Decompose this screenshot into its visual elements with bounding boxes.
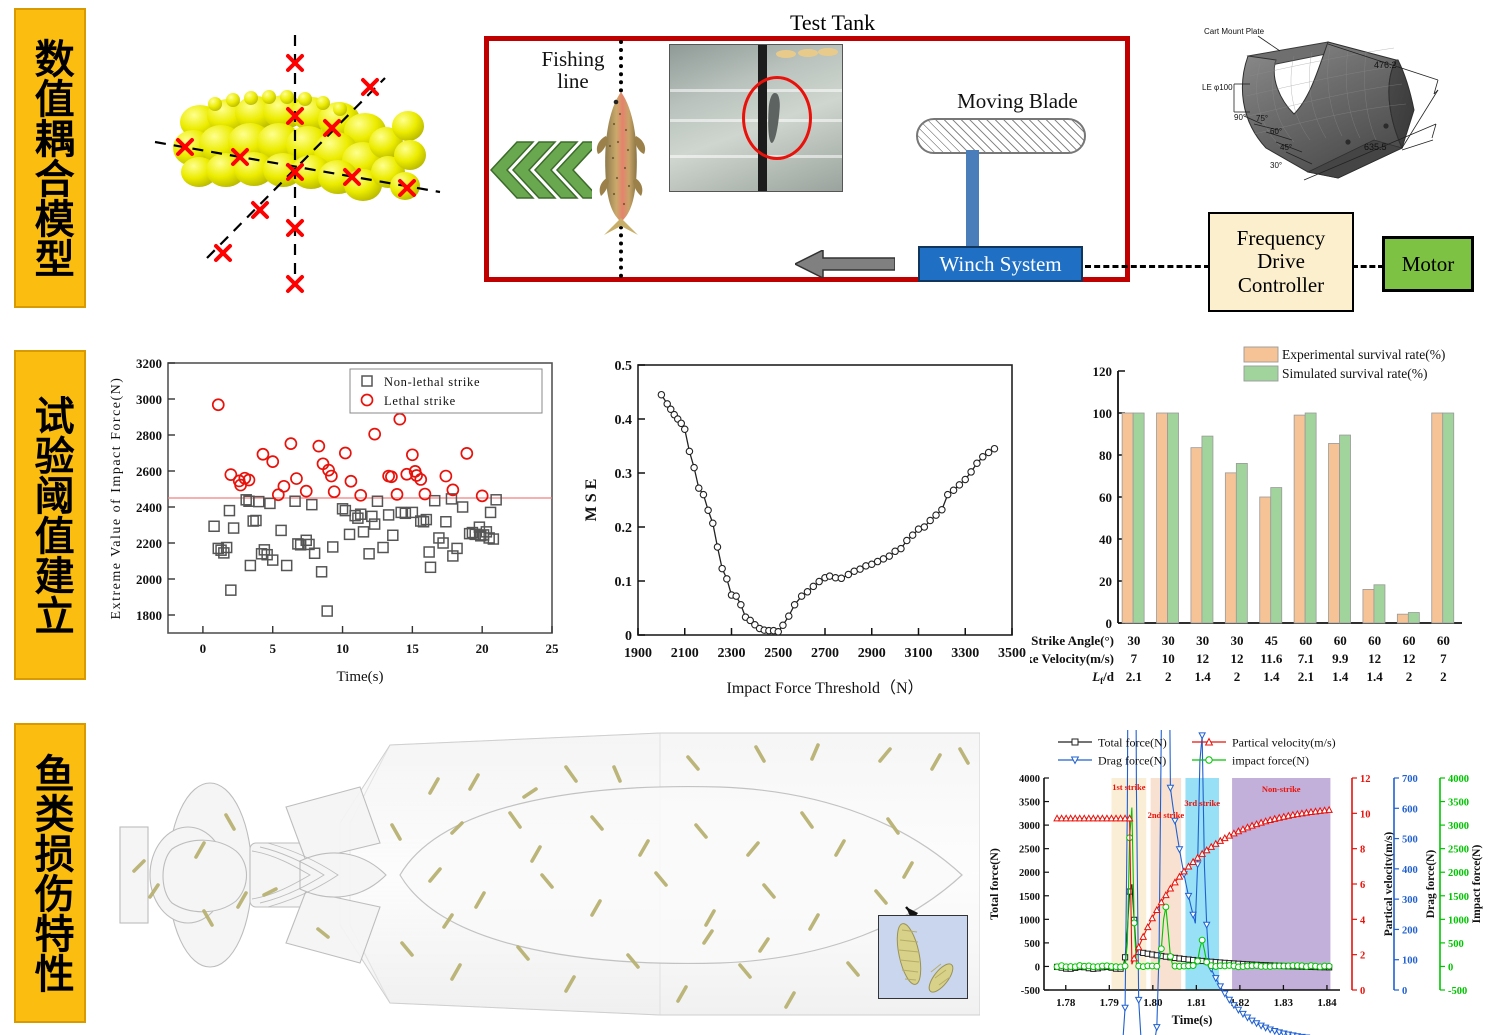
row-numerical-coupling-model: 数值耦合模型	[0, 0, 1498, 330]
legend-label: Simulated survival rate(%)	[1282, 366, 1427, 381]
left-axis-label: Total force(N)	[987, 848, 1001, 920]
x-tick-label: 1900	[624, 646, 652, 661]
x-tick-label: 2700	[811, 646, 839, 661]
table-cell: 2	[1234, 669, 1241, 684]
banner-text: 试验阈值建立	[28, 395, 71, 635]
table-cell: 60	[1334, 633, 1347, 648]
y-tick-label: 1800	[136, 608, 162, 623]
x-tick-label: 0	[200, 641, 207, 656]
y-tick-label: 2000	[1019, 868, 1040, 879]
y-tick-label: 20	[1099, 574, 1112, 589]
y-tick-label: 2000	[1448, 868, 1469, 879]
fishing-line-label: Fishing line	[533, 48, 613, 92]
bar	[1432, 413, 1443, 623]
controller-motor-link	[1352, 265, 1384, 268]
winch-system-box: Winch System	[918, 246, 1083, 282]
y-tick-label: 10	[1360, 809, 1371, 820]
bar	[1260, 497, 1271, 623]
data-point	[1199, 937, 1205, 943]
tank-photograph	[669, 44, 843, 192]
legend-label: Total force(N)	[1098, 736, 1167, 750]
data-point	[710, 520, 716, 526]
test-tank-title: Test Tank	[790, 10, 875, 36]
angle-30-label: 30°	[1270, 161, 1282, 170]
banner-threshold-establishment: 试验阈值建立	[14, 350, 86, 680]
banner-text: 鱼类损伤特性	[28, 753, 71, 993]
bar	[1329, 443, 1340, 623]
data-point	[956, 482, 962, 488]
data-point	[1168, 954, 1174, 960]
dim-476-label: 476.2	[1374, 60, 1397, 70]
legend-label-nonlethal: Non-lethal strike	[384, 375, 480, 389]
flow-direction-chevrons	[487, 140, 592, 200]
banner-numerical-coupling-model: 数值耦合模型	[14, 8, 86, 308]
bar	[1294, 415, 1305, 623]
data-point	[1199, 733, 1205, 739]
data-point	[1326, 963, 1332, 969]
angle-75-label: 75°	[1256, 114, 1268, 123]
x-tick-label: 2300	[718, 646, 746, 661]
data-point	[1190, 963, 1196, 969]
data-point	[980, 454, 986, 460]
test-fish-illustration	[592, 90, 650, 235]
legend-swatch	[1244, 347, 1278, 362]
x-axis-label: Time(s)	[337, 669, 384, 685]
y-tick-label: -500	[1448, 986, 1467, 997]
x-tick-label: 3300	[951, 646, 979, 661]
y-tick-label: 3500	[1448, 798, 1469, 809]
table-cell: 10	[1162, 651, 1175, 666]
data-point	[1154, 1025, 1160, 1031]
y-tick-label: 0.1	[615, 575, 633, 590]
bar	[1443, 413, 1454, 623]
legend-label: Partical velocity(m/s)	[1232, 736, 1336, 750]
data-point	[904, 537, 910, 543]
y-tick-label: 500	[1448, 939, 1464, 950]
table-row-label: Strike Velocity(m/s)	[1030, 651, 1114, 666]
angle-60-label: 60°	[1270, 127, 1282, 136]
x-tick-label: 2100	[671, 646, 699, 661]
mse-threshold-chart: 00.10.20.30.40.5190021002300250027002900…	[580, 345, 1030, 700]
bar	[1408, 613, 1419, 624]
legend-swatch	[1244, 366, 1278, 381]
data-point	[733, 593, 739, 599]
bar	[1271, 488, 1282, 623]
legend-label: Experimental survival rate(%)	[1282, 347, 1445, 362]
data-point	[927, 517, 933, 523]
right-axis-label: Partical velocity(m/s)	[1383, 832, 1395, 937]
right-axis-label: Impact force(N)	[1471, 845, 1483, 924]
motor-box: Motor	[1382, 236, 1474, 292]
data-point	[791, 602, 797, 608]
legend-marker	[1206, 757, 1212, 763]
blade-cad-drawing: Cart Mount Plate 476.2 635.5 LE φ100 90°…	[1188, 20, 1488, 215]
y-tick-label: 0.3	[615, 467, 633, 482]
y-tick-label: 0	[1035, 962, 1040, 973]
data-point	[816, 578, 822, 584]
data-point	[658, 392, 664, 398]
bar	[1133, 413, 1144, 623]
blade-stem	[966, 150, 979, 246]
y-tick-label: 0.2	[615, 521, 633, 536]
y-axis-label: Extreme Value of Impact Force(N)	[109, 377, 124, 620]
legend-label-lethal: Lethal strike	[384, 394, 456, 408]
banner-text: 数值耦合模型	[28, 38, 71, 278]
frequency-drive-controller-label: Frequency Drive Controller	[1216, 227, 1346, 298]
y-tick-label: 6	[1360, 880, 1365, 891]
y-tick-label: 60	[1099, 490, 1112, 505]
bar	[1374, 585, 1385, 623]
table-cell: 12	[1403, 651, 1416, 666]
data-point	[1154, 963, 1160, 969]
y-tick-label: 120	[1093, 364, 1113, 379]
banner-fish-injury-characteristics: 鱼类损伤特性	[14, 723, 86, 1023]
data-point	[898, 545, 904, 551]
data-point	[714, 544, 720, 550]
y-tick-label: 0	[1448, 962, 1453, 973]
y-tick-label: 2400	[136, 500, 162, 515]
region-label: 3rd strike	[1184, 798, 1220, 808]
dim-635-label: 635.5	[1364, 142, 1387, 152]
x-tick-label: 1.80	[1143, 997, 1163, 1009]
y-tick-label: 4	[1360, 915, 1366, 926]
y-tick-label: 2600	[136, 464, 162, 479]
table-cell: 2.1	[1298, 669, 1314, 684]
data-point	[691, 464, 697, 470]
y-tick-label: 100	[1093, 406, 1113, 421]
data-point	[719, 565, 725, 571]
data-point	[838, 575, 844, 581]
y-tick-label: 0	[1106, 616, 1113, 631]
y-tick-label: 3000	[1448, 821, 1469, 832]
data-point	[786, 613, 792, 619]
table-cell: 2	[1440, 669, 1447, 684]
data-point	[724, 576, 730, 582]
table-cell: 12	[1196, 651, 1209, 666]
table-cell: 2	[1165, 669, 1172, 684]
y-tick-label: 4000	[1448, 774, 1469, 785]
y-tick-label: 500	[1024, 939, 1040, 950]
y-tick-label: 2500	[1448, 845, 1469, 856]
data-point	[1136, 997, 1142, 1003]
data-point	[1122, 955, 1127, 960]
data-point	[705, 507, 711, 513]
table-cell: 2.1	[1126, 669, 1142, 684]
x-tick-label: 1.84	[1317, 997, 1337, 1009]
le-phi-label: LE φ100	[1202, 83, 1233, 92]
y-tick-label: 0	[1402, 986, 1407, 997]
y-tick-label: 12	[1360, 774, 1371, 785]
bar	[1202, 436, 1213, 623]
y-tick-label: 0	[625, 629, 632, 644]
data-point	[962, 476, 968, 482]
data-point	[921, 524, 927, 530]
table-row-label: Lf/d	[1091, 669, 1115, 686]
data-point	[968, 469, 974, 475]
data-point	[1158, 946, 1164, 952]
table-cell: 30	[1127, 633, 1140, 648]
bar	[1305, 413, 1316, 623]
y-tick-label: 2000	[136, 572, 162, 587]
y-tick-label: 3000	[136, 392, 162, 407]
x-tick-label: 3500	[998, 646, 1026, 661]
data-point	[1195, 958, 1201, 964]
data-point	[696, 485, 702, 491]
data-point	[974, 460, 980, 466]
y-tick-label: 4000	[1019, 774, 1040, 785]
bar	[1363, 589, 1374, 623]
y-tick-label: 300	[1402, 895, 1418, 906]
table-cell: 45	[1265, 633, 1279, 648]
x-tick-label: 2900	[858, 646, 886, 661]
photo-highlight-circle	[742, 76, 812, 160]
fish-particle-model-svg	[95, 0, 475, 330]
angle-45-label: 45°	[1280, 143, 1292, 152]
bar	[1157, 413, 1168, 623]
x-tick-label: 1.83	[1274, 997, 1294, 1009]
coupling-model-illustration	[95, 0, 475, 330]
table-cell: 60	[1437, 633, 1450, 648]
plot-frame	[638, 365, 1012, 635]
y-tick-label: 80	[1099, 448, 1112, 463]
y-tick-label: 2200	[136, 536, 162, 551]
bar	[1340, 435, 1351, 623]
y-tick-label: 0	[1360, 986, 1365, 997]
data-point	[939, 507, 945, 513]
data-point	[798, 593, 804, 599]
x-tick-label: 1.79	[1100, 997, 1120, 1009]
x-axis-label: Impact Force Threshold（N）	[727, 679, 924, 697]
fish-bead-body	[173, 90, 426, 201]
y-tick-label: 8	[1360, 845, 1365, 856]
y-axis-label: M S E	[583, 479, 600, 522]
data-point	[678, 420, 684, 426]
data-point	[985, 449, 991, 455]
y-tick-label: 100	[1402, 956, 1418, 967]
legend-marker	[1072, 739, 1078, 745]
y-tick-label: 2800	[136, 428, 162, 443]
table-cell: 30	[1231, 633, 1244, 648]
region-label: 1st strike	[1112, 782, 1146, 792]
x-tick-label: 10	[336, 641, 349, 656]
y-tick-label: 40	[1099, 532, 1112, 547]
y-tick-label: 600	[1402, 804, 1418, 815]
data-point	[909, 532, 915, 538]
cfd-particle-domain-visualization	[100, 715, 980, 1035]
legend-label: Drag force(N)	[1098, 754, 1166, 768]
survival-rate-bar-chart: 020406080100120Experimental survival rat…	[1030, 345, 1498, 715]
y-tick-label: 1500	[1019, 892, 1040, 903]
data-point	[1122, 1005, 1128, 1011]
table-cell: 1.4	[1332, 669, 1349, 684]
table-cell: 30	[1162, 633, 1175, 648]
table-cell: 9.9	[1332, 651, 1349, 666]
table-cell: 11.6	[1260, 651, 1283, 666]
x-tick-label: 1.81	[1187, 997, 1206, 1009]
data-point	[810, 583, 816, 589]
bar	[1122, 413, 1133, 623]
y-tick-label: 0.5	[615, 359, 633, 374]
x-tick-label: 2500	[764, 646, 792, 661]
y-tick-label: 0.4	[615, 413, 633, 428]
table-cell: 7	[1131, 651, 1138, 666]
particle-zoom-inset	[878, 915, 968, 999]
bar	[1397, 614, 1408, 623]
x-tick-label: 25	[546, 641, 560, 656]
right-axis-label: Drag force(N)	[1425, 850, 1437, 919]
region-label: Non-strike	[1262, 784, 1301, 794]
data-point	[780, 622, 786, 628]
row-threshold-establishment: 试验阈值建立 180020002200240026002800300032000…	[0, 345, 1498, 715]
x-tick-label: 15	[406, 641, 420, 656]
data-point	[686, 448, 692, 454]
moving-blade	[916, 118, 1086, 154]
cart-mount-plate-label: Cart Mount Plate	[1204, 27, 1265, 36]
y-tick-label: 400	[1402, 865, 1418, 876]
table-cell: 2	[1406, 669, 1413, 684]
table-cell: 60	[1299, 633, 1312, 648]
table-cell: 60	[1368, 633, 1381, 648]
data-point	[738, 602, 744, 608]
data-point	[682, 426, 688, 432]
frequency-drive-controller-box: Frequency Drive Controller	[1208, 212, 1354, 312]
table-cell: 12	[1231, 651, 1244, 666]
table-cell: 1.4	[1194, 669, 1211, 684]
y-tick-label: 500	[1402, 835, 1418, 846]
table-cell: 12	[1368, 651, 1381, 666]
y-tick-label: 3200	[136, 356, 162, 371]
data-point	[700, 491, 706, 497]
data-point	[1131, 920, 1137, 926]
strike-timeseries-chart: -50005001000150020002500300035004000Tota…	[980, 730, 1498, 1035]
table-cell: 60	[1403, 633, 1416, 648]
x-axis-label: Time(s)	[1172, 1013, 1213, 1027]
x-tick-label: 5	[269, 641, 276, 656]
x-tick-label: 3100	[905, 646, 933, 661]
table-cell: 1.4	[1263, 669, 1280, 684]
bar	[1168, 413, 1179, 623]
bar	[1236, 463, 1247, 623]
scatter-impact-force-chart: 1800200022002400260028003000320005101520…	[100, 345, 570, 700]
y-tick-label: 2	[1360, 951, 1365, 962]
data-point	[933, 512, 939, 518]
x-tick-label: 1.78	[1056, 997, 1076, 1009]
y-tick-label: 1000	[1448, 915, 1469, 926]
table-row-label: Strike Angle(°)	[1031, 633, 1114, 648]
row-fish-injury-characteristics: 鱼类损伤特性	[0, 715, 1498, 1035]
y-tick-label: 3000	[1019, 821, 1040, 832]
table-cell: 1.4	[1366, 669, 1383, 684]
data-point	[1122, 963, 1128, 969]
y-tick-label: -500	[1021, 986, 1040, 997]
y-tick-label: 700	[1402, 774, 1418, 785]
data-point	[804, 589, 810, 595]
legend-label: impact force(N)	[1232, 754, 1309, 768]
data-point	[991, 446, 997, 452]
x-tick-label: 20	[476, 641, 489, 656]
data-point	[886, 553, 892, 559]
data-point	[1127, 889, 1132, 894]
moving-blade-label: Moving Blade	[935, 90, 1100, 112]
table-cell: 7.1	[1298, 651, 1314, 666]
y-tick-label: 1000	[1019, 915, 1040, 926]
bar	[1225, 473, 1236, 623]
y-tick-label: 2500	[1019, 845, 1040, 856]
y-tick-label: 3500	[1019, 798, 1040, 809]
table-cell: 30	[1196, 633, 1209, 648]
region-label: 2nd strike	[1148, 810, 1185, 820]
table-cell: 7	[1440, 651, 1447, 666]
data-point	[945, 491, 951, 497]
winch-controller-link	[1085, 265, 1210, 268]
data-point	[775, 629, 781, 635]
y-tick-label: 1500	[1448, 892, 1469, 903]
data-point	[950, 487, 956, 493]
angle-90-label: 90°	[1234, 113, 1246, 122]
bar	[1191, 448, 1202, 623]
motion-direction-arrow	[795, 250, 895, 278]
y-tick-label: 200	[1402, 925, 1418, 936]
